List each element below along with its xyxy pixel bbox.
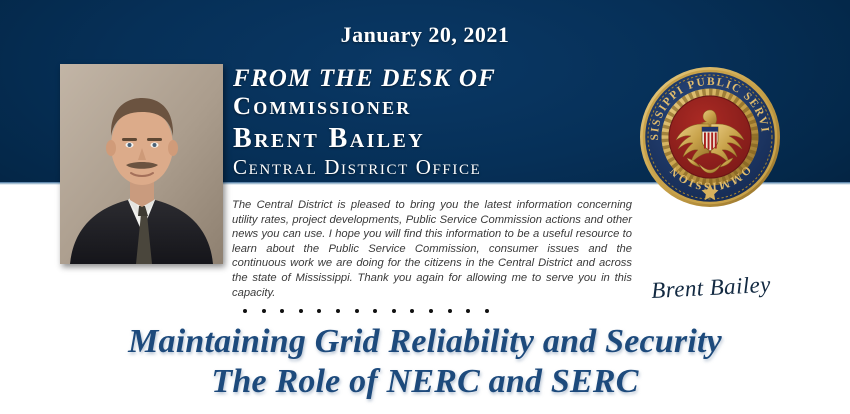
from-the-desk-line: FROM THE DESK OF: [233, 66, 613, 92]
headline-line-1: Maintaining Grid Reliability and Securit…: [0, 322, 850, 362]
commissioner-label: Commissioner: [233, 93, 613, 122]
newsletter-banner: January 20, 2021: [0, 0, 850, 414]
commissioner-name: Brent Bailey: [233, 123, 613, 154]
mississippi-public-service-commission-seal-icon: MISSISSIPPI PUBLIC SERVICE C OMMISSION: [639, 66, 781, 208]
feature-headline: Maintaining Grid Reliability and Securit…: [0, 322, 850, 402]
district-office-label: Central District Office: [233, 155, 613, 179]
dotted-divider: [243, 307, 489, 315]
commissioner-signature: Brent Bailey: [651, 272, 772, 304]
intro-paragraph: The Central District is pleased to bring…: [232, 198, 632, 300]
masthead-title-block: FROM THE DESK OF Commissioner Brent Bail…: [233, 66, 613, 180]
issue-date: January 20, 2021: [0, 22, 850, 48]
commissioner-portrait-photo: [60, 64, 223, 264]
headline-line-2: The Role of NERC and SERC: [0, 362, 850, 402]
